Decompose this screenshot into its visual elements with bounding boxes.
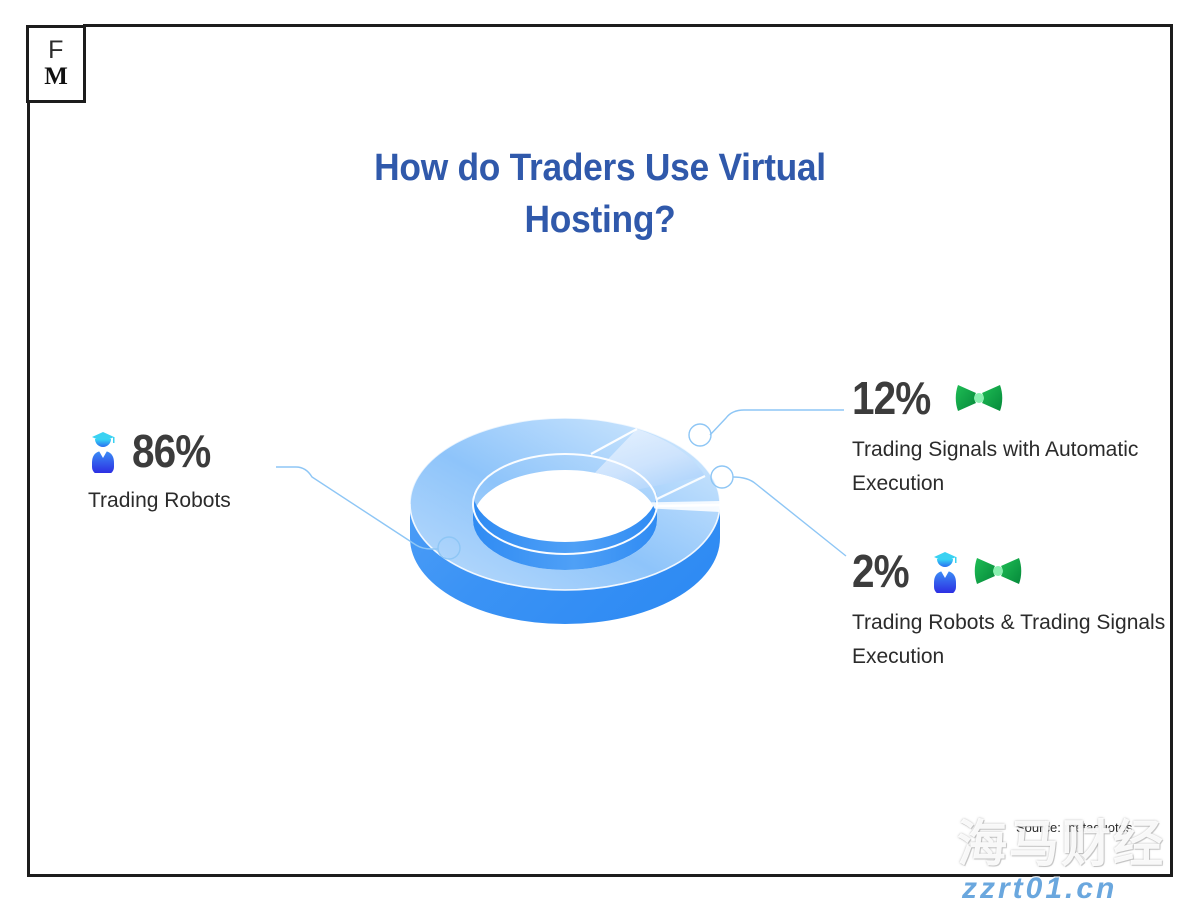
watermark-brand: 海马财经 [957, 812, 1200, 876]
logo-letter-f: F [48, 38, 64, 63]
callout-trading-robots: 86% Trading Robots [88, 428, 358, 518]
callout-description: Trading Robots [88, 484, 358, 518]
callout-robots-and-signals: 2% Trading Robots & Trading Signals Exec… [852, 548, 1172, 674]
callout-description: Trading Robots & Trading Signals Executi… [852, 606, 1172, 674]
callout-percent: 2% [852, 548, 909, 594]
bowtie-icon [974, 554, 1022, 588]
callout-percent: 12% [852, 375, 930, 421]
page-title: How do Traders Use Virtual Hosting? [321, 142, 879, 246]
frame-right-border [1170, 24, 1173, 877]
robot-icon [88, 429, 118, 473]
frame-left-border [27, 97, 30, 877]
donut-chart-3d [375, 360, 755, 680]
frame-top-border [83, 24, 1173, 27]
callout-value-row: 86% [88, 428, 358, 474]
fm-logo: F M [26, 25, 86, 103]
callout-value-row: 2% [852, 548, 1172, 594]
callout-value-row: 12% [852, 375, 1152, 421]
bowtie-icon [955, 381, 1003, 415]
robot-icon [930, 549, 960, 593]
logo-letter-m: M [44, 63, 68, 90]
watermark-url: zzrt01.cn [962, 872, 1117, 906]
callout-description: Trading Signals with Automatic Execution [852, 433, 1152, 501]
callout-trading-signals: 12% Trading Signals with Automatic Execu… [852, 375, 1152, 501]
callout-percent: 86% [132, 428, 210, 474]
infographic-canvas: F M How do Traders Use Virtual Hosting? [0, 0, 1200, 908]
